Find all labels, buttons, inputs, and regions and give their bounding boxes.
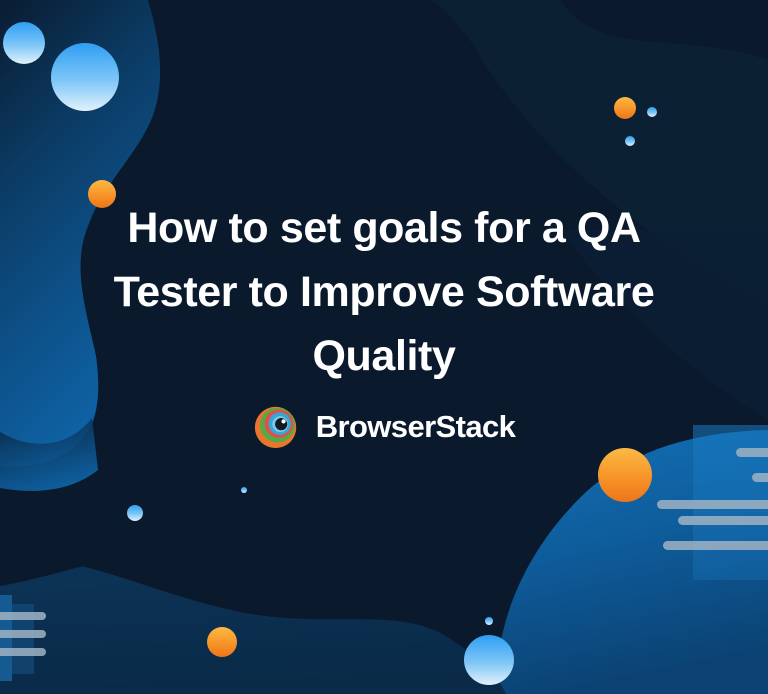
- browserstack-eye-icon: [253, 403, 300, 450]
- page-title: How to set goals for a QA Tester to Impr…: [104, 196, 664, 388]
- brand-logo: BrowserStack: [104, 403, 664, 450]
- cover-content: How to set goals for a QA Tester to Impr…: [0, 0, 768, 694]
- cover-canvas: How to set goals for a QA Tester to Impr…: [0, 0, 768, 694]
- brand-wordmark: BrowserStack: [316, 411, 516, 442]
